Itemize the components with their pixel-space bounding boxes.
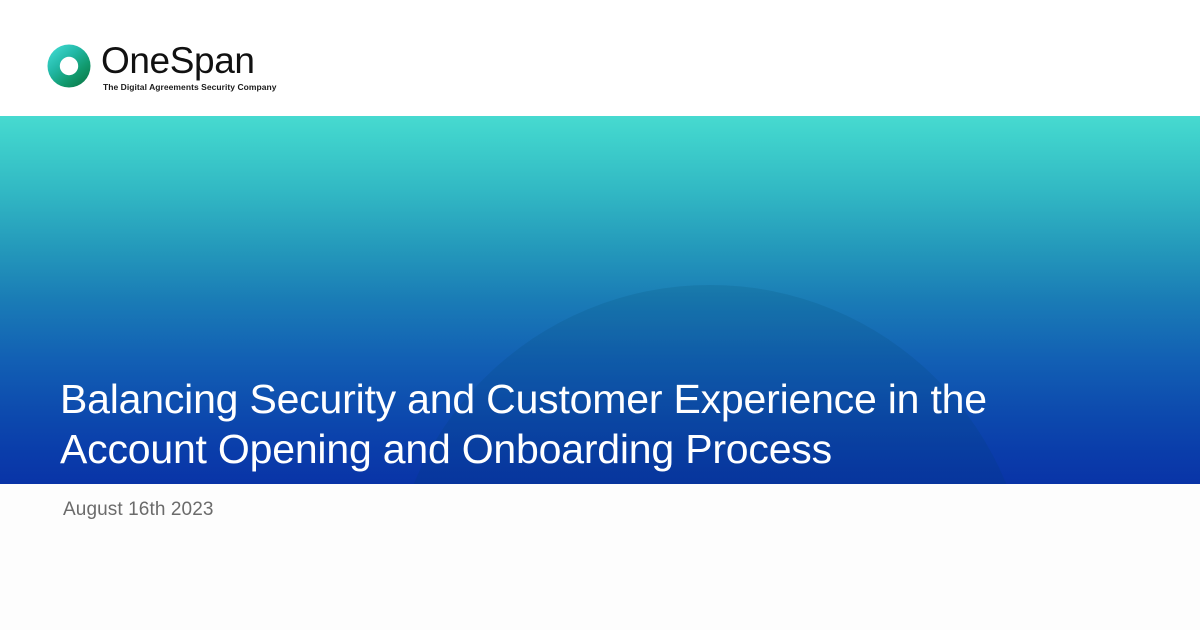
page-title-line-1: Balancing Security and Customer Experien… (60, 374, 1100, 424)
page-title-line-2: Account Opening and Onboarding Process (60, 424, 1100, 474)
onespan-ring-icon (47, 44, 91, 88)
onespan-logo[interactable]: OneSpan The Digital Agreements Security … (47, 42, 277, 93)
title-block: Balancing Security and Customer Experien… (60, 374, 1100, 474)
slide-footer: August 16th 2023 (0, 484, 1200, 630)
logo-tagline: The Digital Agreements Security Company (103, 82, 277, 93)
hero-banner: Balancing Security and Customer Experien… (0, 116, 1200, 484)
presentation-date: August 16th 2023 (63, 497, 214, 523)
title-slide: OneSpan The Digital Agreements Security … (0, 0, 1200, 630)
slide-header: OneSpan The Digital Agreements Security … (0, 0, 1200, 116)
logo-text-block: OneSpan The Digital Agreements Security … (101, 42, 277, 93)
page-title: Balancing Security and Customer Experien… (60, 374, 1100, 474)
logo-wordmark: OneSpan (101, 42, 255, 80)
